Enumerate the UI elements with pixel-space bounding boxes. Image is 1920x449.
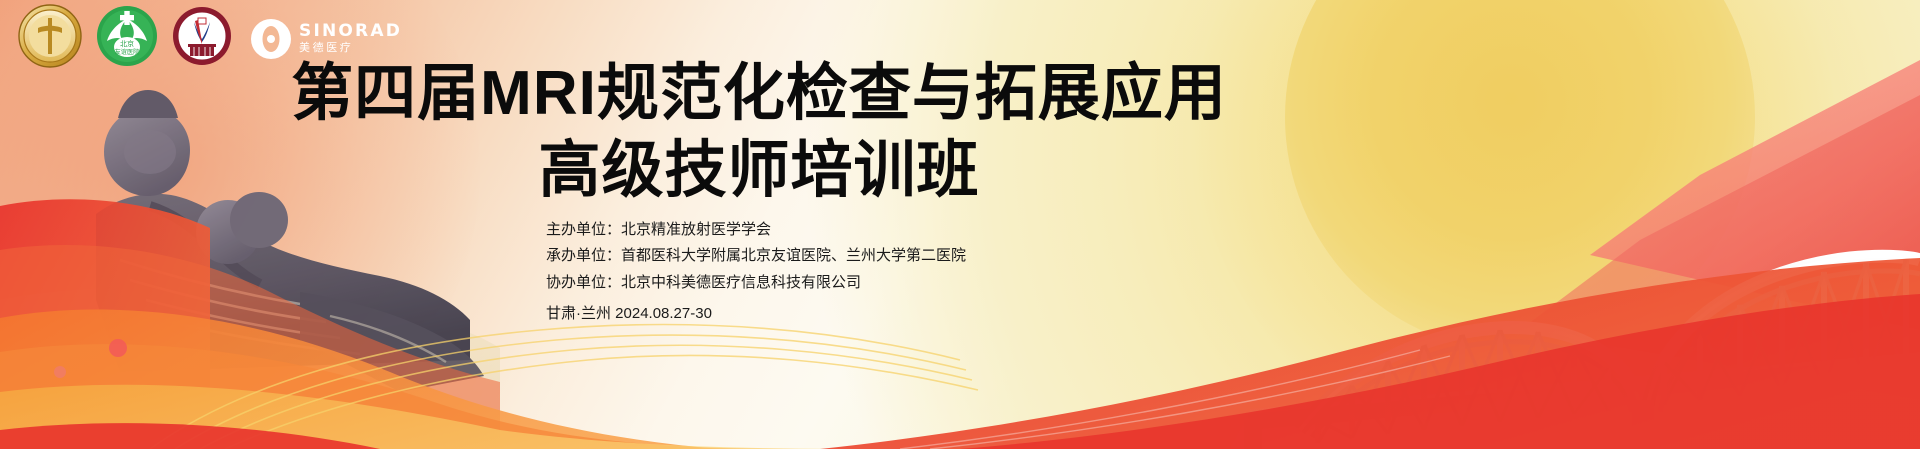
sinorad-wordmark-en: SINORAD — [299, 23, 402, 40]
banner-title: 第四届MRI规范化检查与拓展应用 高级技师培训班 — [0, 62, 1500, 202]
conference-banner: 北京 友谊医院 — [0, 0, 1920, 449]
sinorad-eye-icon — [250, 18, 292, 60]
co-organizer-line: 承办单位：首都医科大学附属北京友谊医院、兰州大学第二医院 — [546, 244, 966, 267]
organizer-line: 主办单位：北京精准放射医学学会 — [546, 218, 966, 241]
sinorad-wordmark-cn: 美德医疗 — [299, 43, 402, 54]
gold-cross-emblem-icon — [18, 4, 82, 73]
title-line-2: 高级技师培训班 — [18, 139, 1500, 202]
banner-subtitle-block: 主办单位：北京精准放射医学学会 承办单位：首都医科大学附属北京友谊医院、兰州大学… — [546, 218, 966, 325]
svg-text:友谊医院: 友谊医院 — [115, 48, 140, 56]
organizer-logo-row: 北京 友谊医院 — [18, 4, 402, 73]
date-location-line: 甘肃·兰州 2024.08.27-30 — [546, 302, 966, 325]
beijing-friendship-hospital-emblem-icon: 北京 友谊医院 — [96, 5, 158, 72]
sinorad-logo: SINORAD 美德医疗 — [250, 18, 402, 60]
svg-text:北京: 北京 — [120, 39, 134, 48]
lanzhou-university-second-hospital-emblem-icon — [172, 6, 232, 71]
supporter-line: 协办单位：北京中科美德医疗信息科技有限公司 — [546, 271, 966, 294]
